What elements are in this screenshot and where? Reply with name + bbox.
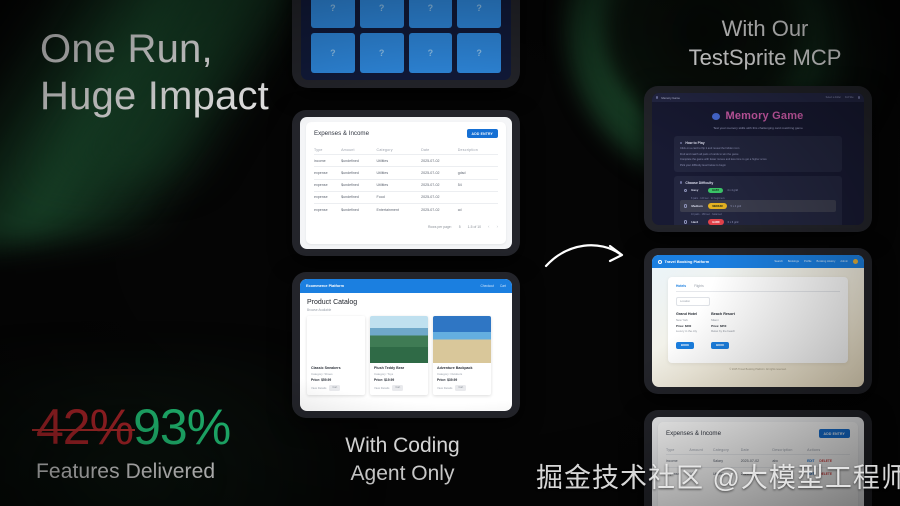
difficulty-name: Hard bbox=[691, 220, 704, 224]
memory-game-title-row: Memory Game bbox=[674, 110, 842, 122]
add-to-cart-button[interactable]: Cart bbox=[392, 385, 403, 391]
memory-game-title: Memory Game bbox=[725, 110, 803, 122]
nav-link-checkout[interactable]: Checkout bbox=[481, 284, 494, 288]
target-icon bbox=[680, 181, 682, 183]
stat-before-value: 42% bbox=[36, 398, 133, 456]
travel-body: Hotels Flights Location Grand Hotel New … bbox=[652, 268, 864, 371]
expenses-table-head: Type Amount Category Date Description bbox=[314, 145, 498, 155]
hotel-description: Luxury in the city bbox=[676, 329, 697, 333]
difficulty-badge: HARD bbox=[708, 219, 723, 224]
product-card[interactable]: Plush Teddy Bear Category: Toys Price: $… bbox=[370, 316, 428, 395]
how-to-play-title: How to Play bbox=[685, 141, 704, 145]
left-column-caption: With Coding Agent Only bbox=[300, 432, 505, 489]
table-row[interactable]: expense $undefined Food 2025-07-02 bbox=[314, 191, 498, 203]
memory-card[interactable]: ? bbox=[311, 33, 355, 73]
tablet-memory-grid: ? ? ? ? ? ? ? ? ? ? ? bbox=[292, 0, 520, 88]
difficulty-panel: Choose Difficulty Easy EASY 4 x 4 grid 8… bbox=[674, 176, 842, 225]
product-actions: View Details Cart bbox=[437, 385, 487, 391]
how-to-play-item: Find and match all pairs of cards to win… bbox=[680, 153, 836, 156]
nav-link-bookings[interactable]: Bookings bbox=[788, 260, 799, 263]
search-input[interactable]: Location bbox=[676, 297, 710, 306]
column-header-date: Date bbox=[741, 445, 773, 455]
product-image bbox=[307, 316, 365, 363]
product-price: Price: $59.99 bbox=[311, 378, 361, 382]
cell-type: expense bbox=[314, 179, 341, 191]
table-header-row: Type Amount Category Date Description Ac… bbox=[666, 445, 850, 455]
expenses2-title: Expenses & Income bbox=[666, 430, 721, 437]
memory-card[interactable]: ? bbox=[360, 33, 404, 73]
travel-screen: Travel Booking Platform Search Bookings … bbox=[652, 255, 864, 387]
curved-right-arrow-icon bbox=[540, 234, 640, 284]
table-header-row: Type Amount Category Date Description bbox=[314, 145, 498, 155]
cell-description: 54 bbox=[458, 179, 498, 191]
stat-after-value: 93% bbox=[133, 398, 230, 456]
travel-search-card: Hotels Flights Location Grand Hotel New … bbox=[668, 277, 848, 363]
nav-link-booking-history[interactable]: Booking History bbox=[817, 260, 836, 263]
product-actions: View Details Cart bbox=[311, 385, 361, 391]
cell-description bbox=[458, 191, 498, 203]
tab-hotels[interactable]: Hotels bbox=[676, 284, 686, 288]
how-to-play-heading: How to Play bbox=[680, 141, 836, 145]
catalog-nav-links: Checkout Cart bbox=[481, 284, 507, 288]
product-category: Category: Outdoors bbox=[437, 372, 487, 376]
tablet-memory-game-app: Memory Game Select a folder Full Site Me… bbox=[644, 86, 872, 232]
travel-tabs: Hotels Flights bbox=[676, 284, 840, 292]
memory-grid-screen: ? ? ? ? ? ? ? ? ? ? ? bbox=[301, 0, 511, 80]
catalog-brand: Ecommerce Platform bbox=[306, 284, 344, 288]
cell-category: Utilities bbox=[377, 167, 422, 179]
slide-canvas: One Run, Huge Impact With Our TestSprite… bbox=[0, 0, 900, 506]
column-header-description: Description bbox=[458, 145, 498, 155]
window-title: Memory Game bbox=[661, 96, 680, 100]
cell-date: 2025-07-02 bbox=[421, 167, 458, 179]
tablet-expenses-app: Expenses & Income ADD ENTRY Type Amount … bbox=[292, 110, 520, 256]
nav-link-profile[interactable]: Profile bbox=[804, 260, 812, 263]
hotel-price: Price: $200 bbox=[676, 324, 697, 328]
cell-amount: $undefined bbox=[341, 191, 376, 203]
difficulty-title: Choose Difficulty bbox=[685, 181, 713, 185]
cell-type: expense bbox=[314, 203, 341, 215]
full-site-button[interactable]: Full Site bbox=[845, 96, 854, 99]
expenses-card: Expenses & Income ADD ENTRY Type Amount … bbox=[306, 122, 506, 244]
catalog-heading: Product Catalog bbox=[307, 299, 505, 306]
product-info: Classic Sneakers Category: Shoes Price: … bbox=[307, 363, 365, 395]
column-header-category: Category bbox=[713, 445, 741, 455]
hotel-price: Price: $350 bbox=[711, 324, 735, 328]
product-info: Adventure Backpack Category: Outdoors Pr… bbox=[433, 363, 491, 395]
difficulty-meta: 5 x 4 grid bbox=[731, 205, 742, 208]
column-header-actions: Actions bbox=[807, 445, 850, 455]
radio-icon[interactable] bbox=[684, 204, 687, 207]
cell-category: Entertainment bbox=[377, 203, 422, 215]
cell-description bbox=[458, 155, 498, 167]
cell-date: 2025-07-02 bbox=[421, 179, 458, 191]
memory-grid-cards: ? ? ? ? ? ? ? ? ? ? ? bbox=[311, 0, 501, 73]
cell-category: Food bbox=[377, 191, 422, 203]
book-button[interactable]: BOOK bbox=[676, 342, 694, 349]
cell-date: 2025-07-02 bbox=[421, 191, 458, 203]
cell-amount: $undefined bbox=[341, 179, 376, 191]
column-header-type: Type bbox=[314, 145, 341, 155]
catalog-body: Product Catalog Browse Available Classic… bbox=[300, 293, 512, 401]
titlebar-left: Memory Game bbox=[656, 96, 680, 100]
memory-game-titlebar: Memory Game Select a folder Full Site bbox=[652, 93, 864, 102]
column-header-amount: Amount bbox=[689, 445, 712, 455]
column-header-date: Date bbox=[421, 145, 458, 155]
memory-game-subtitle: Test your memory skills with this challe… bbox=[674, 126, 842, 130]
difficulty-meta: 4 x 4 grid bbox=[727, 189, 738, 192]
add-to-cart-button[interactable]: Cart bbox=[455, 385, 466, 391]
catalog-subheading: Browse Available bbox=[307, 308, 505, 312]
difficulty-badge: EASY bbox=[708, 188, 723, 193]
tab-flights[interactable]: Flights bbox=[694, 284, 704, 288]
cell-type: income bbox=[314, 155, 341, 167]
hotel-location: New York bbox=[676, 318, 697, 322]
pagination-range: 1-5 of 10 bbox=[468, 225, 481, 229]
hotel-name: Beach Resort bbox=[711, 312, 735, 316]
menu-icon[interactable] bbox=[858, 96, 860, 98]
select-folder-button[interactable]: Select a folder bbox=[826, 96, 841, 99]
difficulty-badge: MEDIUM bbox=[708, 203, 726, 208]
difficulty-option-easy[interactable]: Easy EASY 4 x 4 grid bbox=[680, 185, 836, 196]
travel-brand: Travel Booking Platform bbox=[658, 259, 709, 264]
product-name: Adventure Backpack bbox=[437, 366, 487, 370]
product-category: Category: Shoes bbox=[311, 372, 361, 376]
expenses-table: Type Amount Category Date Description in… bbox=[314, 145, 498, 215]
memory-game-screen: Memory Game Select a folder Full Site Me… bbox=[652, 93, 864, 225]
memory-card[interactable]: ? bbox=[457, 0, 501, 28]
nav-link-search[interactable]: Search bbox=[774, 260, 783, 263]
product-name: Plush Teddy Bear bbox=[374, 366, 424, 370]
product-name: Classic Sneakers bbox=[311, 366, 361, 370]
product-actions: View Details Cart bbox=[374, 385, 424, 391]
table-row[interactable]: expense $undefined Entertainment 2025-07… bbox=[314, 203, 498, 215]
column-header-amount: Amount bbox=[341, 145, 376, 155]
product-category: Category: Toys bbox=[374, 372, 424, 376]
memory-card[interactable]: ? bbox=[360, 0, 404, 28]
product-card[interactable]: Adventure Backpack Category: Outdoors Pr… bbox=[433, 316, 491, 395]
book-button[interactable]: BOOK bbox=[711, 342, 729, 349]
avatar[interactable] bbox=[853, 259, 858, 264]
add-entry-button-2[interactable]: ADD ENTRY bbox=[819, 429, 850, 438]
cell-description: cd bbox=[458, 203, 498, 215]
difficulty-name: Easy bbox=[691, 188, 704, 192]
watermark: 掘金技术社区 @大模型工程师 bbox=[536, 456, 900, 495]
tablet-travel-app: Travel Booking Platform Search Bookings … bbox=[644, 248, 872, 394]
rows-per-page-select[interactable]: 5 bbox=[459, 225, 461, 229]
catalog-product-grid: Classic Sneakers Category: Shoes Price: … bbox=[307, 316, 505, 395]
travel-navbar: Travel Booking Platform Search Bookings … bbox=[652, 255, 864, 268]
cell-amount: $undefined bbox=[341, 167, 376, 179]
hotel-result[interactable]: Grand Hotel New York Price: $200 Luxury … bbox=[676, 312, 697, 351]
catalog-screen: Ecommerce Platform Checkout Cart Product… bbox=[300, 279, 512, 411]
memory-card[interactable]: ? bbox=[409, 33, 453, 73]
pagination-next-button[interactable]: › bbox=[497, 224, 499, 229]
cell-amount: $undefined bbox=[341, 155, 376, 167]
expenses-pagination: Rows per page: 5 1-5 of 10 ‹ › bbox=[314, 224, 498, 229]
column-header-type: Type bbox=[666, 445, 689, 455]
stat-label: Features Delivered bbox=[36, 460, 230, 484]
how-to-play-item: Complete the game with fewer moves and l… bbox=[680, 158, 836, 161]
radio-icon[interactable] bbox=[684, 220, 687, 223]
difficulty-heading: Choose Difficulty bbox=[680, 181, 836, 185]
difficulty-name: Medium bbox=[691, 204, 704, 208]
cell-type: expense bbox=[314, 167, 341, 179]
window-dot-icon bbox=[656, 96, 658, 98]
product-image bbox=[370, 316, 428, 363]
travel-footer: © 2025 Travel Booking Platform. All righ… bbox=[668, 368, 848, 371]
view-details-link[interactable]: View Details bbox=[311, 386, 326, 390]
expenses-header: Expenses & Income ADD ENTRY bbox=[314, 129, 498, 138]
cell-date: 2025-07-02 bbox=[421, 155, 458, 167]
expenses2-header: Expenses & Income ADD ENTRY bbox=[666, 429, 850, 438]
hotel-name: Grand Hotel bbox=[676, 312, 697, 316]
rows-per-page-label: Rows per page: bbox=[428, 225, 452, 229]
table-row[interactable]: income $undefined Utilities 2025-07-02 bbox=[314, 155, 498, 167]
cell-description: gdsd bbox=[458, 167, 498, 179]
radio-icon[interactable] bbox=[684, 189, 687, 192]
travel-nav-links: Search Bookings Profile Booking History … bbox=[774, 259, 858, 264]
cell-date: 2025-07-02 bbox=[421, 203, 458, 215]
nav-link-admin[interactable]: Admin bbox=[840, 260, 848, 263]
hotel-location: Miami bbox=[711, 318, 735, 322]
memory-grid-board: ? ? ? ? ? ? ? ? ? ? ? bbox=[301, 0, 511, 80]
add-entry-button[interactable]: ADD ENTRY bbox=[467, 129, 498, 138]
nav-link-cart[interactable]: Cart bbox=[500, 284, 506, 288]
cell-category: Utilities bbox=[377, 179, 422, 191]
expenses-title: Expenses & Income bbox=[314, 130, 369, 137]
memory-card[interactable]: ? bbox=[457, 33, 501, 73]
headline: One Run, Huge Impact bbox=[40, 26, 269, 120]
product-price: Price: $19.99 bbox=[374, 378, 424, 382]
product-image bbox=[433, 316, 491, 363]
brain-icon bbox=[712, 113, 720, 120]
info-icon bbox=[680, 142, 682, 144]
expenses2-table-head: Type Amount Category Date Description Ac… bbox=[666, 445, 850, 455]
stats-values-row: 42% 93% bbox=[36, 398, 230, 456]
pagination-prev-button[interactable]: ‹ bbox=[488, 224, 490, 229]
how-to-play-panel: How to Play Click on a card to flip it a… bbox=[674, 136, 842, 172]
memory-game-body: Memory Game Test your memory skills with… bbox=[652, 102, 864, 225]
cell-amount: $undefined bbox=[341, 203, 376, 215]
how-to-play-item: Click on a card to flip it and reveal th… bbox=[680, 147, 836, 150]
travel-results: Grand Hotel New York Price: $200 Luxury … bbox=[676, 312, 840, 351]
catalog-navbar: Ecommerce Platform Checkout Cart bbox=[300, 279, 512, 293]
column-header-category: Category bbox=[377, 145, 422, 155]
difficulty-meta: 6 x 6 grid bbox=[728, 221, 739, 224]
product-card[interactable]: Classic Sneakers Category: Shoes Price: … bbox=[307, 316, 365, 395]
how-to-play-item: Pick your difficulty level below to begi… bbox=[680, 164, 836, 167]
product-price: Price: $39.99 bbox=[437, 378, 487, 382]
table-row[interactable]: expense $undefined Utilities 2025-07-02 … bbox=[314, 167, 498, 179]
table-row[interactable]: expense $undefined Utilities 2025-07-02 … bbox=[314, 179, 498, 191]
memory-card[interactable]: ? bbox=[311, 0, 355, 28]
titlebar-right: Select a folder Full Site bbox=[826, 96, 860, 99]
column-header-description: Description bbox=[772, 445, 807, 455]
globe-icon bbox=[658, 260, 662, 264]
hotel-description: Relax by the beach bbox=[711, 329, 735, 333]
travel-brand-label: Travel Booking Platform bbox=[665, 259, 710, 264]
view-details-link[interactable]: View Details bbox=[374, 386, 389, 390]
view-details-link[interactable]: View Details bbox=[437, 386, 452, 390]
tablet-catalog-app: Ecommerce Platform Checkout Cart Product… bbox=[292, 272, 520, 418]
cell-type: expense bbox=[314, 191, 341, 203]
difficulty-option-hard[interactable]: Hard HARD 6 x 6 grid bbox=[680, 216, 836, 225]
stats-block: 42% 93% Features Delivered bbox=[36, 398, 230, 484]
difficulty-option-medium[interactable]: Medium MEDIUM 5 x 4 grid bbox=[680, 200, 836, 211]
product-info: Plush Teddy Bear Category: Toys Price: $… bbox=[370, 363, 428, 395]
expenses-screen: Expenses & Income ADD ENTRY Type Amount … bbox=[300, 117, 512, 249]
right-column-title: With Our TestSprite MCP bbox=[625, 14, 900, 73]
memory-card[interactable]: ? bbox=[409, 0, 453, 28]
expenses-table-body: income $undefined Utilities 2025-07-02 e… bbox=[314, 155, 498, 215]
hotel-result[interactable]: Beach Resort Miami Price: $350 Relax by … bbox=[711, 312, 735, 351]
cell-category: Utilities bbox=[377, 155, 422, 167]
add-to-cart-button[interactable]: Cart bbox=[329, 385, 340, 391]
